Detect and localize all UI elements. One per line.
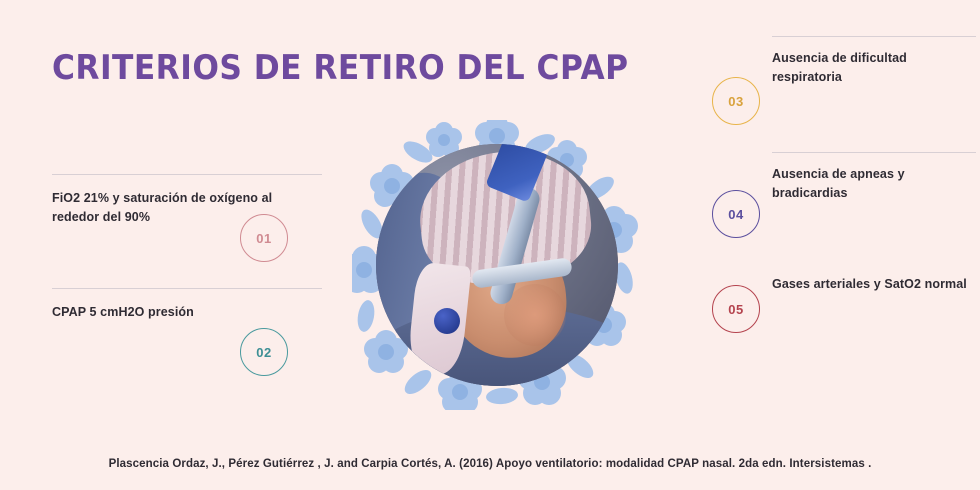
photo-container (352, 120, 642, 410)
divider (772, 152, 976, 153)
divider (52, 174, 322, 175)
criterion-text-03: Ausencia de dificultad respiratoria (772, 49, 976, 87)
divider (52, 288, 322, 289)
criterion-text-05: Gases arteriales y SatO2 normal (772, 275, 976, 294)
criterion-item-02: CPAP 5 cmH2O presión (52, 288, 322, 322)
criterion-item-04: Ausencia de apneas y bradicardias (772, 152, 976, 203)
criterion-item-01: FiO2 21% y saturación de oxígeno al rede… (52, 174, 322, 227)
divider (772, 36, 976, 37)
criterion-text-04: Ausencia de apneas y bradicardias (772, 165, 976, 203)
page-title: CRITERIOS DE RETIRO DEL CPAP (52, 48, 629, 88)
criterion-text-02: CPAP 5 cmH2O presión (52, 303, 322, 322)
newborn-cpap-photo (376, 144, 618, 386)
citation-text: Plascencia Ordaz, J., Pérez Gutiérrez , … (0, 458, 980, 470)
criterion-number-02: 02 (240, 328, 288, 376)
criterion-number-04: 04 (712, 190, 760, 238)
criterion-item-05: Gases arteriales y SatO2 normal (772, 275, 976, 294)
criterion-number-01: 01 (240, 214, 288, 262)
criterion-item-03: Ausencia de dificultad respiratoria (772, 36, 976, 87)
criterion-number-05: 05 (712, 285, 760, 333)
criterion-number-03: 03 (712, 77, 760, 125)
